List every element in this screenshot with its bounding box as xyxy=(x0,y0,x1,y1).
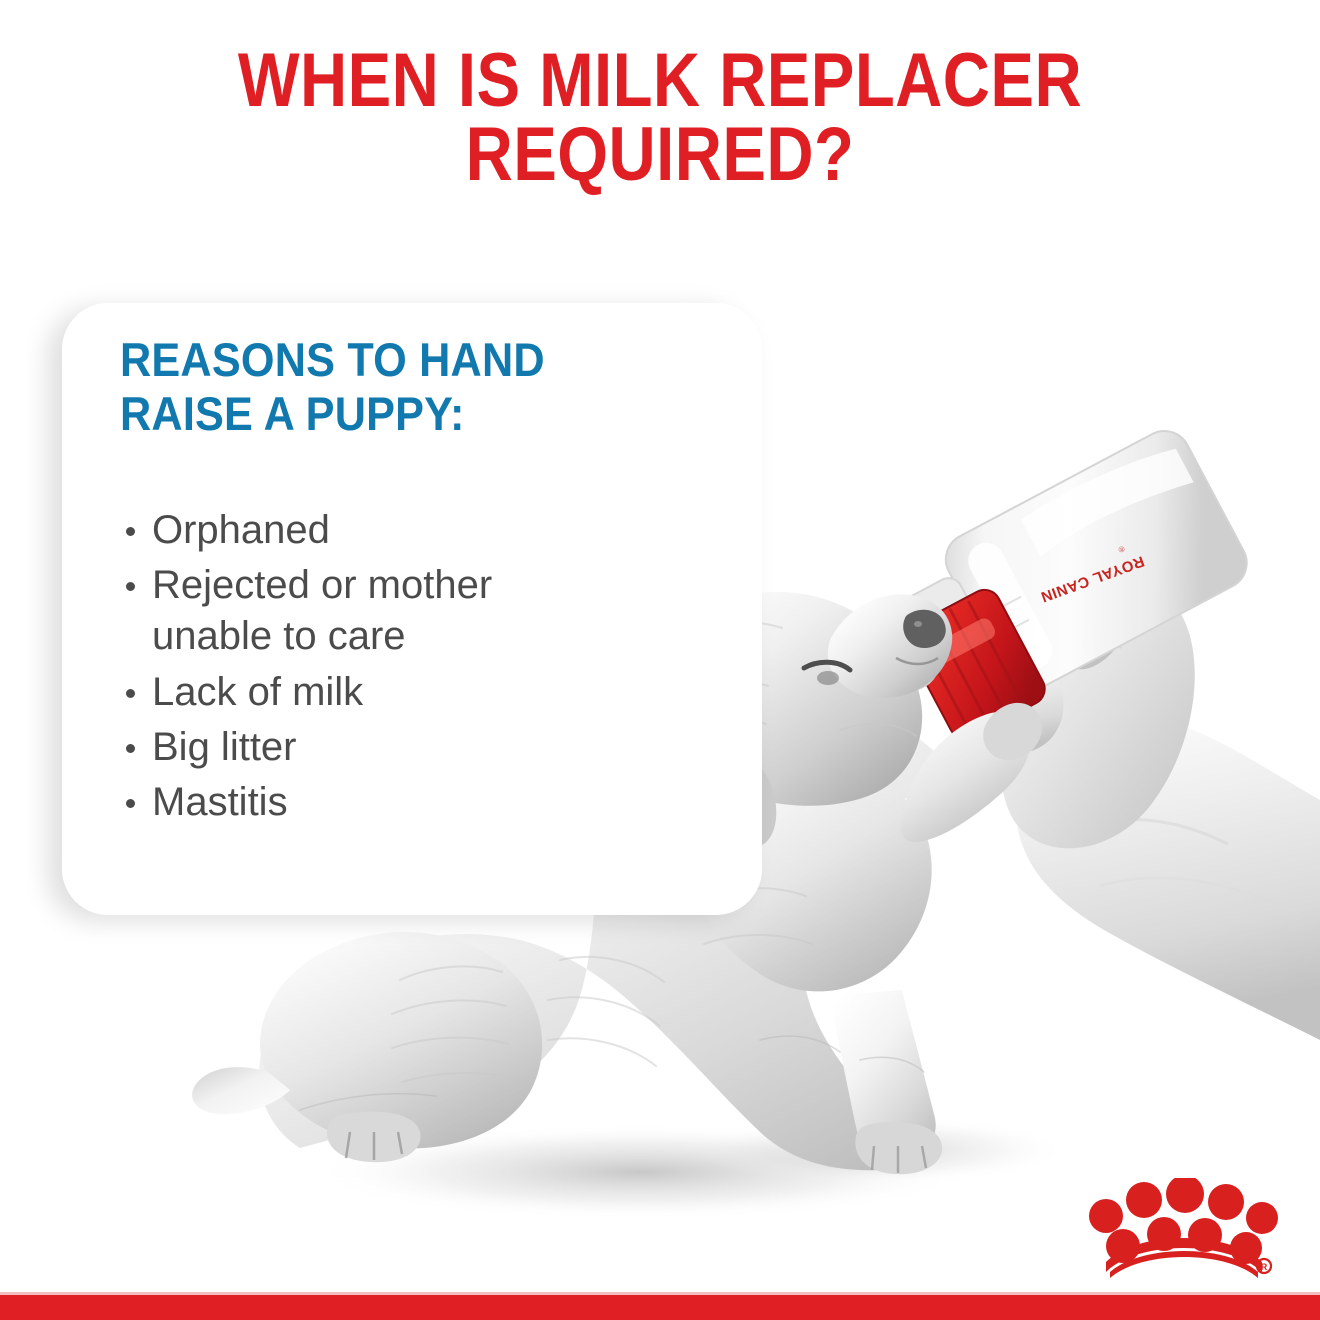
list-item: Lack of milk xyxy=(120,667,582,718)
reasons-list: Orphaned Rejected or mother unable to ca… xyxy=(120,505,680,832)
page-title: WHEN IS MILK REPLACER REQUIRED? xyxy=(196,44,1125,193)
svg-text:R: R xyxy=(1261,1262,1268,1272)
list-item: Rejected or mother unable to care xyxy=(120,560,582,662)
svg-text:®: ® xyxy=(1117,544,1126,555)
info-card-content: REASONS TO HAND RAISE A PUPPY: Orphaned … xyxy=(62,303,762,915)
list-item: Big litter xyxy=(120,722,582,773)
bottle-brand-text: ROYAL CANIN xyxy=(1038,552,1146,605)
bottom-red-bar xyxy=(0,1295,1320,1320)
poster-root: WHEN IS MILK REPLACER REQUIRED? xyxy=(0,0,1320,1320)
list-item: Mastitis xyxy=(120,777,582,828)
list-item: Orphaned xyxy=(120,505,582,556)
card-heading: REASONS TO HAND RAISE A PUPPY: xyxy=(120,333,545,441)
royal-canin-crown-logo: R xyxy=(1088,1178,1278,1278)
